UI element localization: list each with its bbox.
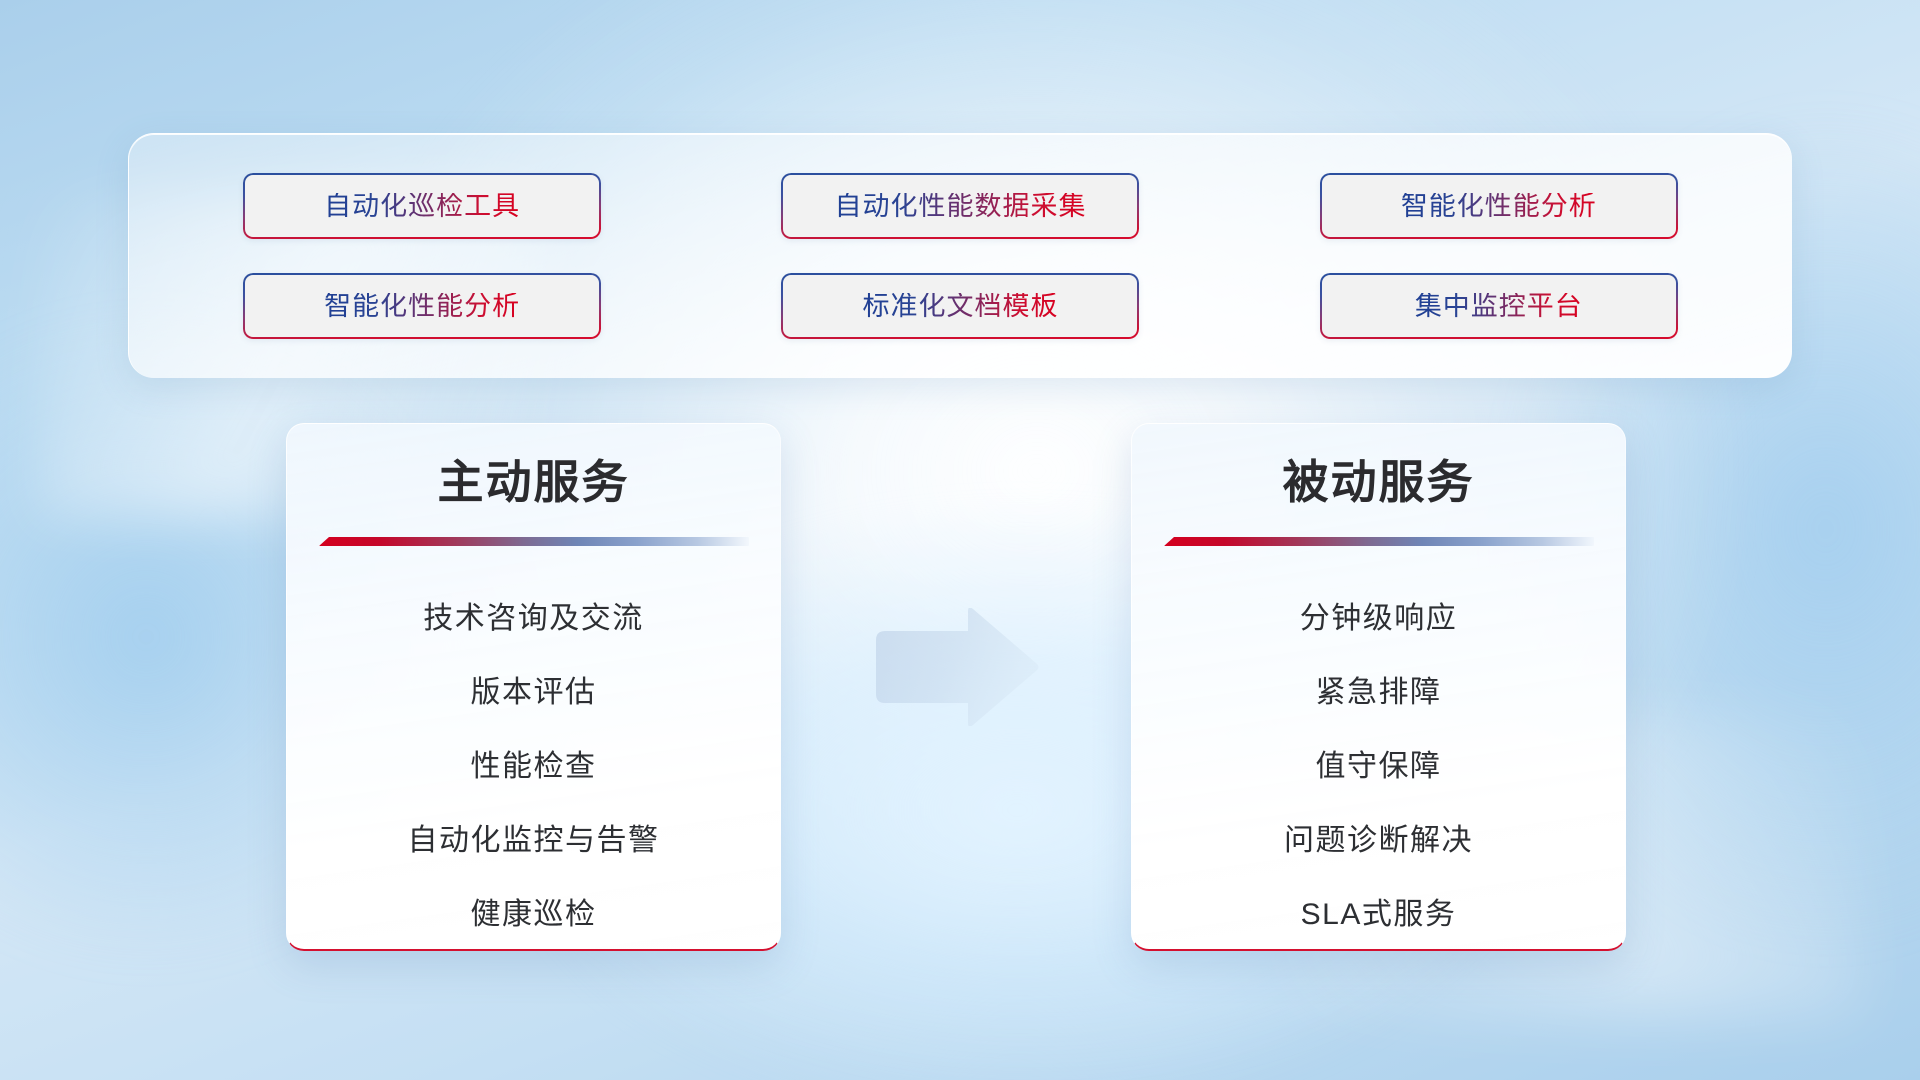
right-arrow-icon: [872, 608, 1040, 726]
tag-chip-5[interactable]: 集中监控平台: [1320, 273, 1678, 339]
list-item: 分钟级响应: [1300, 601, 1458, 637]
tag-chip-label: 智能化性能分析: [1401, 193, 1597, 220]
tag-chip-1[interactable]: 自动化性能数据采集: [781, 173, 1139, 239]
tag-chip-4[interactable]: 标准化文档模板: [781, 273, 1139, 339]
tag-chip-label: 集中监控平台: [1415, 293, 1583, 320]
tag-chip-label: 自动化性能数据采集: [834, 193, 1086, 220]
list-item: SLA式服务: [1301, 897, 1457, 933]
card-divider: [1164, 537, 1594, 546]
tag-chip-label: 智能化性能分析: [324, 293, 520, 320]
card-title: 主动服务: [287, 456, 780, 509]
card-title: 被动服务: [1132, 456, 1625, 509]
list-item: 问题诊断解决: [1284, 823, 1473, 859]
card-divider: [319, 537, 749, 546]
list-item: 值守保障: [1316, 749, 1442, 785]
tag-chip-label: 自动化巡检工具: [324, 193, 520, 220]
list-item: 紧急排障: [1316, 675, 1442, 711]
tag-chip-0[interactable]: 自动化巡检工具: [243, 173, 601, 239]
list-item: 性能检查: [471, 749, 597, 785]
list-item: 技术咨询及交流: [423, 601, 644, 637]
service-card-reactive: 被动服务 分钟级响应 紧急排障 值守保障 问题诊断解决 SLA式服务: [1131, 423, 1626, 951]
list-item: 健康巡检: [471, 897, 597, 933]
diagram-stage: 自动化巡检工具 自动化性能数据采集 智能化性能分析 智能化性能分析 标准化文档模…: [0, 0, 1920, 1080]
capability-tag-grid: 自动化巡检工具 自动化性能数据采集 智能化性能分析 智能化性能分析 标准化文档模…: [129, 134, 1792, 378]
tag-chip-3[interactable]: 智能化性能分析: [243, 273, 601, 339]
list-item: 版本评估: [471, 675, 597, 711]
list-item: 自动化监控与告警: [408, 823, 660, 859]
tag-chip-2[interactable]: 智能化性能分析: [1320, 173, 1678, 239]
card-item-list: 分钟级响应 紧急排障 值守保障 问题诊断解决 SLA式服务: [1132, 585, 1625, 925]
capability-tag-panel: 自动化巡检工具 自动化性能数据采集 智能化性能分析 智能化性能分析 标准化文档模…: [128, 133, 1792, 378]
tag-chip-label: 标准化文档模板: [862, 293, 1058, 320]
card-item-list: 技术咨询及交流 版本评估 性能检查 自动化监控与告警 健康巡检: [287, 585, 780, 925]
service-card-proactive: 主动服务 技术咨询及交流 版本评估 性能检查 自动化监控与告警 健康巡检: [286, 423, 781, 951]
